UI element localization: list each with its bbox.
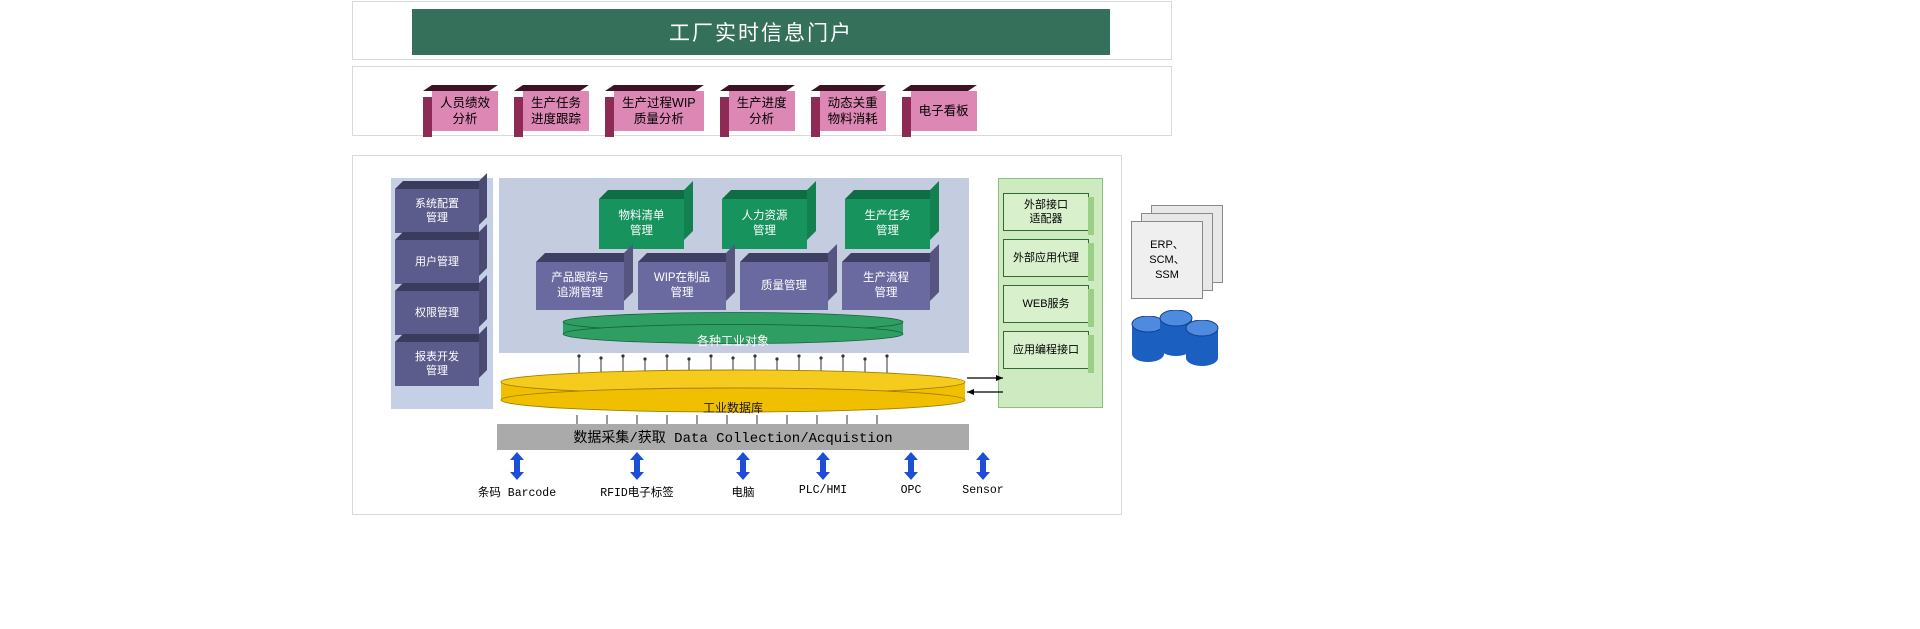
architecture-panel: 系统配置 管理 用户管理 权限管理 报表开发 管理 物料清单 管理 人力资源 管… [352,155,1122,515]
data-source-label-barcode: 条码 Barcode [478,484,556,500]
integration-item-application-programming-interface[interactable]: 应用编程接口 [1003,331,1089,369]
arrow-icon-rfid [629,452,645,480]
industrial-objects-label: 各种工业对象 [559,332,907,349]
app-button-staff-performance-analysis[interactable]: 人员绩效 分析 [432,91,498,131]
sidebar-item-report-development-management[interactable]: 报表开发 管理 [395,342,479,386]
app-button-production-task-progress[interactable]: 生产任务 进度跟踪 [523,91,589,131]
system-management-column: 系统配置 管理 用户管理 权限管理 报表开发 管理 [391,178,493,409]
sidebar-item-user-management[interactable]: 用户管理 [395,240,479,284]
external-database-icons [1131,310,1219,368]
module-production-process-management[interactable]: 生产流程 管理 [842,262,930,310]
data-sources-row: 条码 Barcode RFID电子标签 电脑 PLC/HMI OPC Senso… [471,452,991,502]
core-modules-top-row: 物料清单 管理 人力资源 管理 生产任务 管理 [599,190,930,249]
page-title: 工厂实时信息门户 [412,9,1110,55]
core-modules-bottom-row: 产品跟踪与 追溯管理 WIP在制品 管理 质量管理 生产流程 管理 [536,253,930,310]
core-modules-panel: 物料清单 管理 人力资源 管理 生产任务 管理 产品跟踪与 追溯管理 WIP在制… [499,178,969,353]
data-source-label-opc: OPC [901,484,922,497]
data-source-label-plc-hmi: PLC/HMI [799,484,847,497]
database-integration-link-arrows [965,370,1007,402]
arrow-icon-computer [735,452,751,480]
external-system-page-front: ERP、 SCM、 SSM [1131,221,1203,299]
sidebar-item-permission-management[interactable]: 权限管理 [395,291,479,335]
data-source-label-rfid: RFID电子标签 [600,484,674,500]
arrow-icon-barcode [509,452,525,480]
data-source-label-computer: 电脑 [732,484,755,500]
arrow-icon-sensor [975,452,991,480]
integration-item-external-interface-adapter[interactable]: 外部接口 适配器 [1003,193,1089,231]
app-button-wip-quality-analysis[interactable]: 生产过程WIP 质量分析 [614,91,704,131]
database-cylinder-icon-right [1185,320,1219,366]
banner-panel: 工厂实时信息门户 [352,1,1172,60]
app-button-electronic-kanban[interactable]: 电子看板 [911,91,977,131]
integration-item-external-application-agent[interactable]: 外部应用代理 [1003,239,1089,277]
module-quality-management[interactable]: 质量管理 [740,262,828,310]
app-button-production-progress-analysis[interactable]: 生产进度 分析 [729,91,795,131]
module-hr-management[interactable]: 人力资源 管理 [722,199,807,249]
external-systems-stack: ERP、 SCM、 SSM [1131,205,1223,303]
app-button-dynamic-material-consumption[interactable]: 动态关重 物料消耗 [820,91,886,131]
integration-item-web-service[interactable]: WEB服务 [1003,285,1089,323]
sidebar-item-system-config-management[interactable]: 系统配置 管理 [395,189,479,233]
industrial-database-layer: 工业数据库 [497,368,969,420]
module-bom-management[interactable]: 物料清单 管理 [599,199,684,249]
arrow-icon-plc-hmi [815,452,831,480]
data-source-label-sensor: Sensor [962,484,1003,497]
diagram-page: 工厂实时信息门户 人员绩效 分析 生产任务 进度跟踪 生产过程WIP 质量分析 … [0,0,1920,629]
module-production-task-management[interactable]: 生产任务 管理 [845,199,930,249]
application-buttons-row: 人员绩效 分析 生产任务 进度跟踪 生产过程WIP 质量分析 生产进度 分析 动… [423,85,977,131]
arrow-icon-opc [903,452,919,480]
application-buttons-panel: 人员绩效 分析 生产任务 进度跟踪 生产过程WIP 质量分析 生产进度 分析 动… [352,66,1172,136]
integration-services-panel: 外部接口 适配器 外部应用代理 WEB服务 应用编程接口 [998,178,1103,408]
module-product-tracking-tracing[interactable]: 产品跟踪与 追溯管理 [536,262,624,310]
module-wip-management[interactable]: WIP在制品 管理 [638,262,726,310]
industrial-objects-layer: 各种工业对象 [559,312,907,352]
data-collection-bar: 数据采集/获取 Data Collection/Acquistion [497,424,969,450]
